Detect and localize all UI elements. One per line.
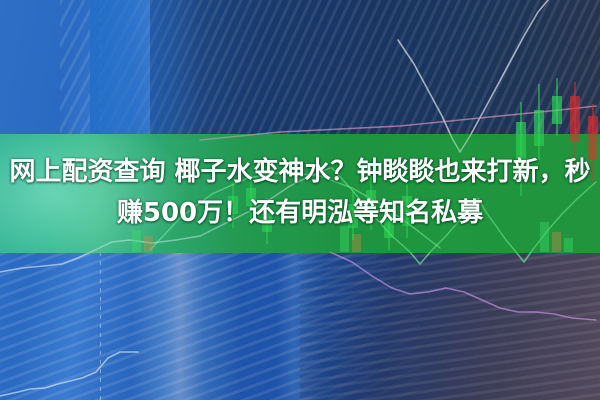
candle-body xyxy=(552,96,562,124)
chart-line-magenta-wave xyxy=(330,252,596,253)
chart-line-white-trendline-left xyxy=(0,352,138,396)
headline: 网上配资查询 椰子水变神水？钟睒睒也来打新，秒 赚500万！还有明泓等知名私募 xyxy=(0,152,600,234)
candle-body xyxy=(570,134,580,142)
volume-bar xyxy=(552,232,561,252)
chart-line-magenta-wave xyxy=(330,252,596,320)
candle-body xyxy=(534,134,544,146)
banner: 网上配资查询 椰子水变神水？钟睒睒也来打新，秒 赚500万！还有明泓等知名私募 xyxy=(0,0,600,400)
volume-bar xyxy=(564,238,573,252)
headline-line-1: 网上配资查询 椰子水变神水？钟睒睒也来打新，秒 xyxy=(0,152,600,193)
volume-bar xyxy=(144,236,153,252)
headline-line-2: 赚500万！还有明泓等知名私募 xyxy=(0,193,600,234)
